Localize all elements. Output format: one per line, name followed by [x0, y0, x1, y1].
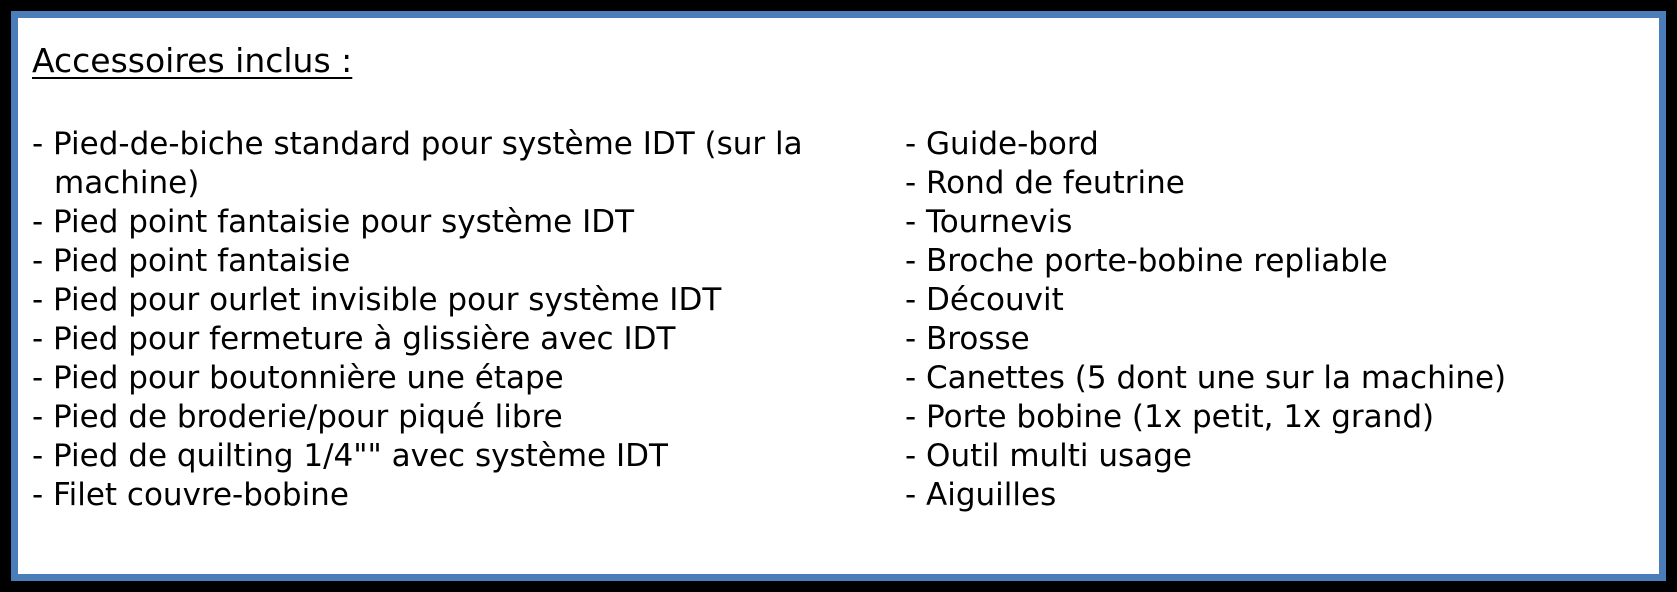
list-item: - Guide-bord — [905, 125, 1665, 164]
list-item: - Tournevis — [905, 203, 1665, 242]
list-item: - Canettes (5 dont une sur la machine) — [905, 359, 1665, 398]
list-item: - Filet couvre-bobine — [32, 476, 892, 515]
list-item: - Pied pour boutonnière une étape — [32, 359, 892, 398]
list-item: - Pied point fantaisie pour système IDT — [32, 203, 892, 242]
list-item: - Brosse — [905, 320, 1665, 359]
list-item: - Pied pour ourlet invisible pour systèm… — [32, 281, 892, 320]
list-item: - Aiguilles — [905, 476, 1665, 515]
list-item: - Pied-de-biche standard pour système ID… — [32, 125, 892, 203]
list-item: - Broche porte-bobine repliable — [905, 242, 1665, 281]
list-item: - Rond de feutrine — [905, 164, 1665, 203]
accessories-left-column: - Pied-de-biche standard pour système ID… — [32, 125, 892, 515]
slide-frame: Accessoires inclus : - Pied-de-biche sta… — [11, 11, 1666, 581]
list-item: - Outil multi usage — [905, 437, 1665, 476]
list-item: - Découvit — [905, 281, 1665, 320]
list-item: - Porte bobine (1x petit, 1x grand) — [905, 398, 1665, 437]
list-item: - Pied pour fermeture à glissière avec I… — [32, 320, 892, 359]
accessories-title: Accessoires inclus : — [32, 41, 352, 81]
accessories-right-column: - Guide-bord - Rond de feutrine - Tourne… — [905, 125, 1665, 515]
slide-content-area: Accessoires inclus : - Pied-de-biche sta… — [18, 18, 1659, 574]
list-item: - Pied point fantaisie — [32, 242, 892, 281]
list-item: - Pied de broderie/pour piqué libre — [32, 398, 892, 437]
list-item: - Pied de quilting 1/4"" avec système ID… — [32, 437, 892, 476]
